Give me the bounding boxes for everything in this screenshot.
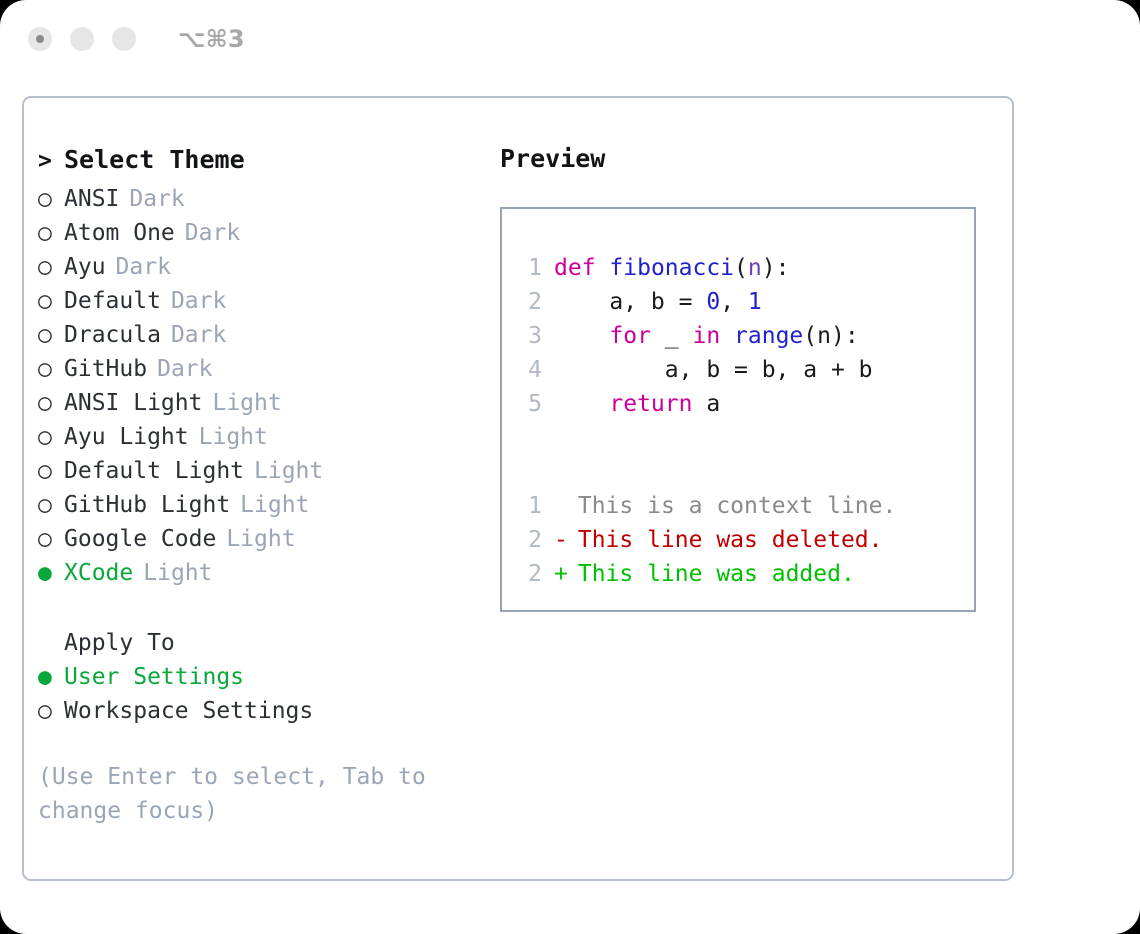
title-bar: ⌥⌘3: [0, 0, 1140, 78]
code-token: for: [609, 323, 651, 349]
apply-to-option-user[interactable]: ● User Settings: [38, 660, 488, 694]
theme-item-tag: Light: [212, 390, 281, 416]
theme-item-label: ANSI: [64, 186, 119, 212]
theme-item-label: Google Code: [64, 526, 216, 552]
radio-unselected-icon[interactable]: ○: [38, 284, 64, 318]
code-token: [554, 391, 609, 417]
radio-unselected-icon[interactable]: ○: [38, 522, 64, 556]
diff-line-number: 2: [516, 561, 542, 587]
apply-to-option-label: Workspace Settings: [64, 698, 313, 724]
code-token: ):: [762, 255, 790, 281]
radio-selected-icon[interactable]: ●: [38, 556, 64, 590]
radio-selected-icon[interactable]: ●: [38, 660, 64, 694]
theme-item-label: XCode: [64, 560, 133, 586]
window-controls: [28, 27, 136, 51]
diff-line-added: 2 + This line was added.: [516, 561, 974, 595]
theme-item-tag: Dark: [116, 254, 171, 280]
keyboard-shortcut-label: ⌥⌘3: [178, 25, 245, 53]
apply-to-title: Apply To: [64, 630, 175, 656]
preview-column: Preview 1 def fibonacci ( n ): 2 a, b =: [500, 144, 1000, 612]
diff-sign: -: [554, 527, 568, 553]
theme-item-label: Default: [64, 288, 161, 314]
code-token: (n):: [803, 323, 858, 349]
code-token: 1: [748, 289, 762, 315]
theme-list-header: > Select Theme: [38, 144, 488, 182]
code-token: a: [692, 391, 720, 417]
diff-sign: [554, 493, 568, 519]
code-line: 5 return a: [516, 391, 974, 425]
theme-list-column: > Select Theme ○ ANSI Dark ○ Atom One Da…: [38, 144, 488, 828]
code-token: 0: [706, 289, 720, 315]
theme-picker-panel: > Select Theme ○ ANSI Dark ○ Atom One Da…: [22, 96, 1014, 881]
diff-text: This line was added.: [578, 561, 855, 587]
code-line-number: 1: [516, 255, 542, 281]
radio-unselected-icon[interactable]: ○: [38, 420, 64, 454]
radio-unselected-icon[interactable]: ○: [38, 182, 64, 216]
theme-item-label: ANSI Light: [64, 390, 202, 416]
theme-item-tag: Dark: [157, 356, 212, 382]
diff-line-number: 2: [516, 527, 542, 553]
code-token: in: [692, 323, 720, 349]
preview-box: 1 def fibonacci ( n ): 2 a, b = 0 , 1: [500, 207, 976, 612]
code-token: [596, 255, 610, 281]
theme-item-tag: Light: [254, 458, 323, 484]
section-spacer: [38, 590, 488, 626]
diff-sign: +: [554, 561, 568, 587]
code-token: range: [734, 323, 803, 349]
theme-list-item[interactable]: ○ ANSI Light Light: [38, 386, 488, 420]
code-token: [720, 323, 734, 349]
keyboard-hint-text: (Use Enter to select, Tab to change focu…: [38, 760, 450, 828]
code-token: a, b =: [554, 289, 706, 315]
diff-line-context: 1 This is a context line.: [516, 493, 974, 527]
theme-item-tag: Light: [226, 526, 295, 552]
code-token: n: [748, 255, 762, 281]
app-window: ⌥⌘3 > Select Theme ○ ANSI Dark ○ Atom On…: [0, 0, 1140, 934]
theme-list-item[interactable]: ○ GitHub Dark: [38, 352, 488, 386]
radio-unselected-icon[interactable]: ○: [38, 318, 64, 352]
apply-to-option-label: User Settings: [64, 664, 244, 690]
theme-list-item[interactable]: ○ Default Light Light: [38, 454, 488, 488]
theme-item-tag: Light: [199, 424, 268, 450]
code-line-number: 3: [516, 323, 542, 349]
code-line: 4 a, b = b, a + b: [516, 357, 974, 391]
apply-to-option-workspace[interactable]: ○ Workspace Settings: [38, 694, 488, 728]
theme-list-item[interactable]: ○ Ayu Dark: [38, 250, 488, 284]
radio-unselected-icon[interactable]: ○: [38, 250, 64, 284]
theme-item-tag: Light: [240, 492, 309, 518]
theme-list-item[interactable]: ○ ANSI Dark: [38, 182, 488, 216]
window-dot-active-icon: [36, 35, 44, 43]
apply-to-header: o Apply To: [38, 626, 488, 660]
code-token: def: [554, 255, 596, 281]
code-token: ,: [720, 289, 748, 315]
apply-to-marker-placeholder: o: [38, 626, 64, 660]
code-line: 3 for _ in range (n):: [516, 323, 974, 357]
theme-item-label: Default Light: [64, 458, 244, 484]
panel-columns: > Select Theme ○ ANSI Dark ○ Atom One Da…: [24, 98, 1012, 879]
window-dot-2-button[interactable]: [70, 27, 94, 51]
theme-item-label: GitHub Light: [64, 492, 230, 518]
radio-unselected-icon[interactable]: ○: [38, 488, 64, 522]
theme-item-tag: Dark: [185, 220, 240, 246]
theme-list-item[interactable]: ○ Default Dark: [38, 284, 488, 318]
theme-item-label: Atom One: [64, 220, 175, 246]
code-line: 1 def fibonacci ( n ):: [516, 255, 974, 289]
radio-unselected-icon[interactable]: ○: [38, 216, 64, 250]
theme-list-item[interactable]: ○ Dracula Dark: [38, 318, 488, 352]
theme-item-tag: Dark: [171, 322, 226, 348]
window-dot-3-button[interactable]: [112, 27, 136, 51]
theme-item-tag: Dark: [129, 186, 184, 212]
diff-text: This line was deleted.: [578, 527, 883, 553]
window-dot-active-button[interactable]: [28, 27, 52, 51]
theme-item-tag: Light: [143, 560, 212, 586]
code-token: a, b = b, a + b: [554, 357, 873, 383]
code-token: [554, 323, 609, 349]
theme-item-tag: Dark: [171, 288, 226, 314]
code-token: fibonacci: [609, 255, 734, 281]
preview-title: Preview: [500, 144, 1000, 173]
diff-line-number: 1: [516, 493, 542, 519]
theme-list-item[interactable]: ○ Google Code Light: [38, 522, 488, 556]
diff-text: This is a context line.: [578, 493, 897, 519]
theme-item-label: Dracula: [64, 322, 161, 348]
prompt-caret-icon: >: [38, 144, 64, 178]
theme-list-header-label: Select Theme: [64, 145, 245, 174]
theme-item-label: Ayu: [64, 254, 106, 280]
code-line-number: 4: [516, 357, 542, 383]
code-token: _: [651, 323, 693, 349]
radio-unselected-icon[interactable]: ○: [38, 352, 64, 386]
code-line-number: 2: [516, 289, 542, 315]
theme-item-label: Ayu Light: [64, 424, 189, 450]
code-blank-line: [516, 459, 974, 493]
code-token: return: [609, 391, 692, 417]
diff-line-deleted: 2 - This line was deleted.: [516, 527, 974, 561]
radio-unselected-icon[interactable]: ○: [38, 694, 64, 728]
theme-list-item[interactable]: ○ Ayu Light Light: [38, 420, 488, 454]
code-token: (: [734, 255, 748, 281]
code-line-number: 5: [516, 391, 542, 417]
theme-list-item[interactable]: ○ GitHub Light Light: [38, 488, 488, 522]
radio-unselected-icon[interactable]: ○: [38, 454, 64, 488]
code-blank-line: [516, 425, 974, 459]
theme-item-label: GitHub: [64, 356, 147, 382]
theme-list-item-selected[interactable]: ● XCode Light: [38, 556, 488, 590]
radio-unselected-icon[interactable]: ○: [38, 386, 64, 420]
code-line: 2 a, b = 0 , 1: [516, 289, 974, 323]
theme-list-item[interactable]: ○ Atom One Dark: [38, 216, 488, 250]
